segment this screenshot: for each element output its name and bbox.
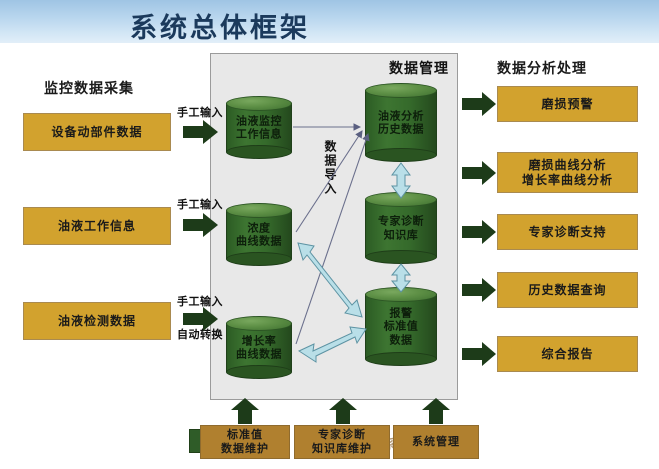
cylinder-bottom [365,352,437,366]
cylinder-top [365,83,437,98]
cylinder-bottom [226,365,292,379]
db-label: 油液监控 工作信息 [226,114,292,142]
bottom-box-label: 标准值 数据维护 [221,428,269,456]
left-box-label: 设备动部件数据 [51,125,142,140]
db-label: 增长率 曲线数据 [226,334,292,362]
left-box-oil-work-info[interactable]: 油液工作信息 [23,207,171,245]
bottom-box-label: 专家诊断 知识库维护 [312,428,372,456]
right-box-comprehensive-report[interactable]: 综合报告 [497,336,638,372]
db-expert-knowledge-base[interactable]: 专家诊断 知识库 [365,192,437,264]
left-box-equipment-data[interactable]: 设备动部件数据 [23,113,171,151]
slide-canvas: 系统总体框架 监控数据采集 数据分析处理 数据管理 设备动部件数据 油液工作信息… [0,0,659,469]
left-box-label: 油液工作信息 [58,219,136,234]
db-label: 油液分析 历史数据 [365,109,437,137]
right-box-wear-alert[interactable]: 磨损预警 [497,86,638,122]
right-box-label: 磨损曲线分析 增长率曲线分析 [522,158,613,188]
db-label: 浓度 曲线数据 [226,221,292,249]
cylinder-bottom [365,148,437,162]
db-oil-analysis-history[interactable]: 油液分析 历史数据 [365,83,437,162]
heading-data-analysis: 数据分析处理 [497,58,587,78]
cylinder-bottom [365,250,437,264]
cylinder-top [226,203,292,218]
cylinder-top [226,96,292,111]
title-band: 系统总体框架 [0,0,659,48]
left-box-oil-test-data[interactable]: 油液检测数据 [23,302,171,340]
page-title: 系统总体框架 [130,6,310,45]
right-box-label: 专家诊断支持 [528,225,606,240]
arrow-label-auto-convert: 自动转换 [177,326,223,342]
cylinder-bottom [226,252,292,266]
right-box-wear-curve-analysis[interactable]: 磨损曲线分析 增长率曲线分析 [497,152,638,193]
cylinder-top [365,192,437,207]
bottom-box-knowledge-base-maintenance[interactable]: 专家诊断 知识库维护 [294,425,390,459]
arrow-label-manual-input-2: 手工输入 [177,196,223,212]
cylinder-bottom [226,145,292,159]
cylinder-top [226,316,292,331]
arrow-label-manual-input-1: 手工输入 [177,104,223,120]
db-label: 报警 标准值 数据 [365,306,437,347]
db-oil-monitor-work-info[interactable]: 油液监控 工作信息 [226,96,292,159]
right-box-label: 磨损预警 [541,97,593,112]
heading-data-collection: 监控数据采集 [44,78,134,98]
right-box-history-query[interactable]: 历史数据查询 [497,272,638,308]
arrow-label-manual-input-3: 手工输入 [177,293,223,309]
heading-data-management: 数据管理 [389,58,449,78]
bottom-box-label: 系统管理 [412,435,460,449]
left-box-label: 油液检测数据 [58,314,136,329]
label-data-import: 数据导入 [322,140,339,196]
bottom-box-system-management[interactable]: 系统管理 [393,425,479,459]
db-label: 专家诊断 知识库 [365,214,437,242]
bottom-box-standard-value-maintenance[interactable]: 标准值 数据维护 [200,425,290,459]
db-concentration-curve[interactable]: 浓度 曲线数据 [226,203,292,266]
cylinder-top [365,287,437,302]
db-growth-rate-curve[interactable]: 增长率 曲线数据 [226,316,292,379]
right-box-label: 历史数据查询 [528,283,606,298]
right-box-label: 综合报告 [541,347,593,362]
right-box-expert-diagnosis-support[interactable]: 专家诊断支持 [497,214,638,250]
db-alarm-standard-values[interactable]: 报警 标准值 数据 [365,287,437,366]
